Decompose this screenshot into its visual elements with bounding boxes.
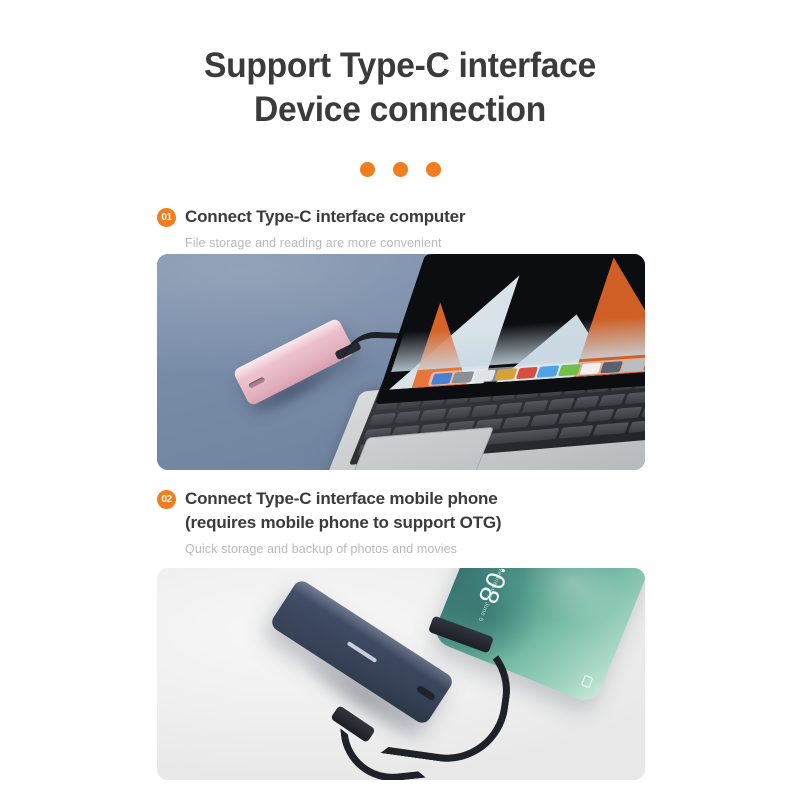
step-01-title: Connect Type-C interface computer <box>185 205 465 229</box>
page-title-line-2: Device connection <box>16 88 784 132</box>
page-title: Support Type-C interface Device connecti… <box>16 44 784 132</box>
ssd-brand-logo <box>347 641 378 663</box>
dock-icon-settings <box>601 361 624 373</box>
step-02-heading: 02 Connect Type-C interface mobile phone… <box>157 487 757 535</box>
dock-icon-photos <box>516 366 539 378</box>
step-block-02: 02 Connect Type-C interface mobile phone… <box>157 487 757 557</box>
dock-icon-launchpad <box>452 371 475 383</box>
step-01-heading: 01 Connect Type-C interface computer <box>157 205 757 229</box>
step-02-title: Connect Type-C interface mobile phone (r… <box>185 487 501 535</box>
desktop-wallpaper <box>385 254 645 390</box>
step-block-01: 01 Connect Type-C interface computer Fil… <box>157 205 757 251</box>
dot-separator <box>0 162 800 177</box>
step-02-subtitle: Quick storage and backup of photos and m… <box>185 541 757 557</box>
page-title-line-1: Support Type-C interface <box>16 44 784 88</box>
dock-icon-messages <box>537 365 560 377</box>
step-02-title-line-1: Connect Type-C interface mobile phone <box>185 487 501 511</box>
pink-ssd-port <box>248 377 265 389</box>
dock-icon-facetime <box>558 363 581 375</box>
separator-dot-icon <box>393 162 408 177</box>
dock-icon-mail <box>494 368 517 380</box>
lock-icon <box>581 675 593 689</box>
dock-icon-finder <box>430 372 453 384</box>
dock-icon-appstore <box>622 359 645 371</box>
separator-dot-icon <box>426 162 441 177</box>
step-02-title-line-2: (requires mobile phone to support OTG) <box>185 511 501 535</box>
step-01-subtitle: File storage and reading are more conven… <box>185 235 757 251</box>
step-number-badge: 02 <box>157 490 176 509</box>
step-number-badge: 01 <box>157 208 176 227</box>
photo-navy-ssd-phone: 08:08 Wednesday, June 5 <box>157 568 645 780</box>
dock-icon-safari <box>473 369 496 381</box>
separator-dot-icon <box>360 162 375 177</box>
step-01-title-line-1: Connect Type-C interface computer <box>185 205 465 229</box>
dock-icon-calendar <box>579 362 602 374</box>
photo-pink-ssd-macbook <box>157 254 645 470</box>
